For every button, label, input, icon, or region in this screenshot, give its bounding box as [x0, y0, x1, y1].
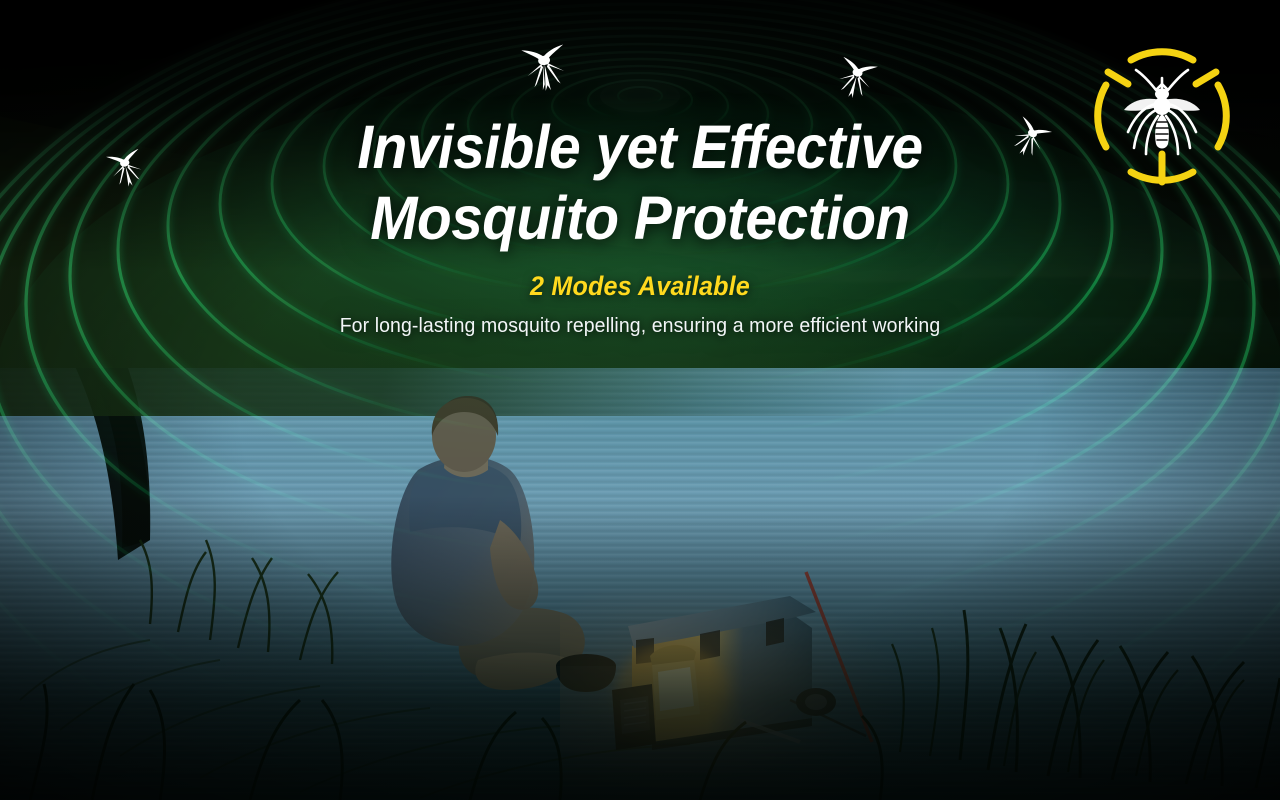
body-description: For long-lasting mosquito repelling, ens… — [32, 313, 1248, 339]
page-title: Invisible yet Effective Mosquito Protect… — [45, 112, 1235, 254]
bottom-darkening-overlay — [0, 496, 1280, 800]
hero-copy-block: Invisible yet Effective Mosquito Protect… — [0, 112, 1280, 339]
subheadline: 2 Modes Available — [45, 270, 1235, 302]
mosquito-repeller-hero-banner: Invisible yet Effective Mosquito Protect… — [0, 0, 1280, 800]
headline-line-2: Mosquito Protection — [370, 184, 910, 252]
headline-line-1: Invisible yet Effective — [357, 113, 922, 181]
mosquito-top-center-icon — [508, 30, 583, 105]
